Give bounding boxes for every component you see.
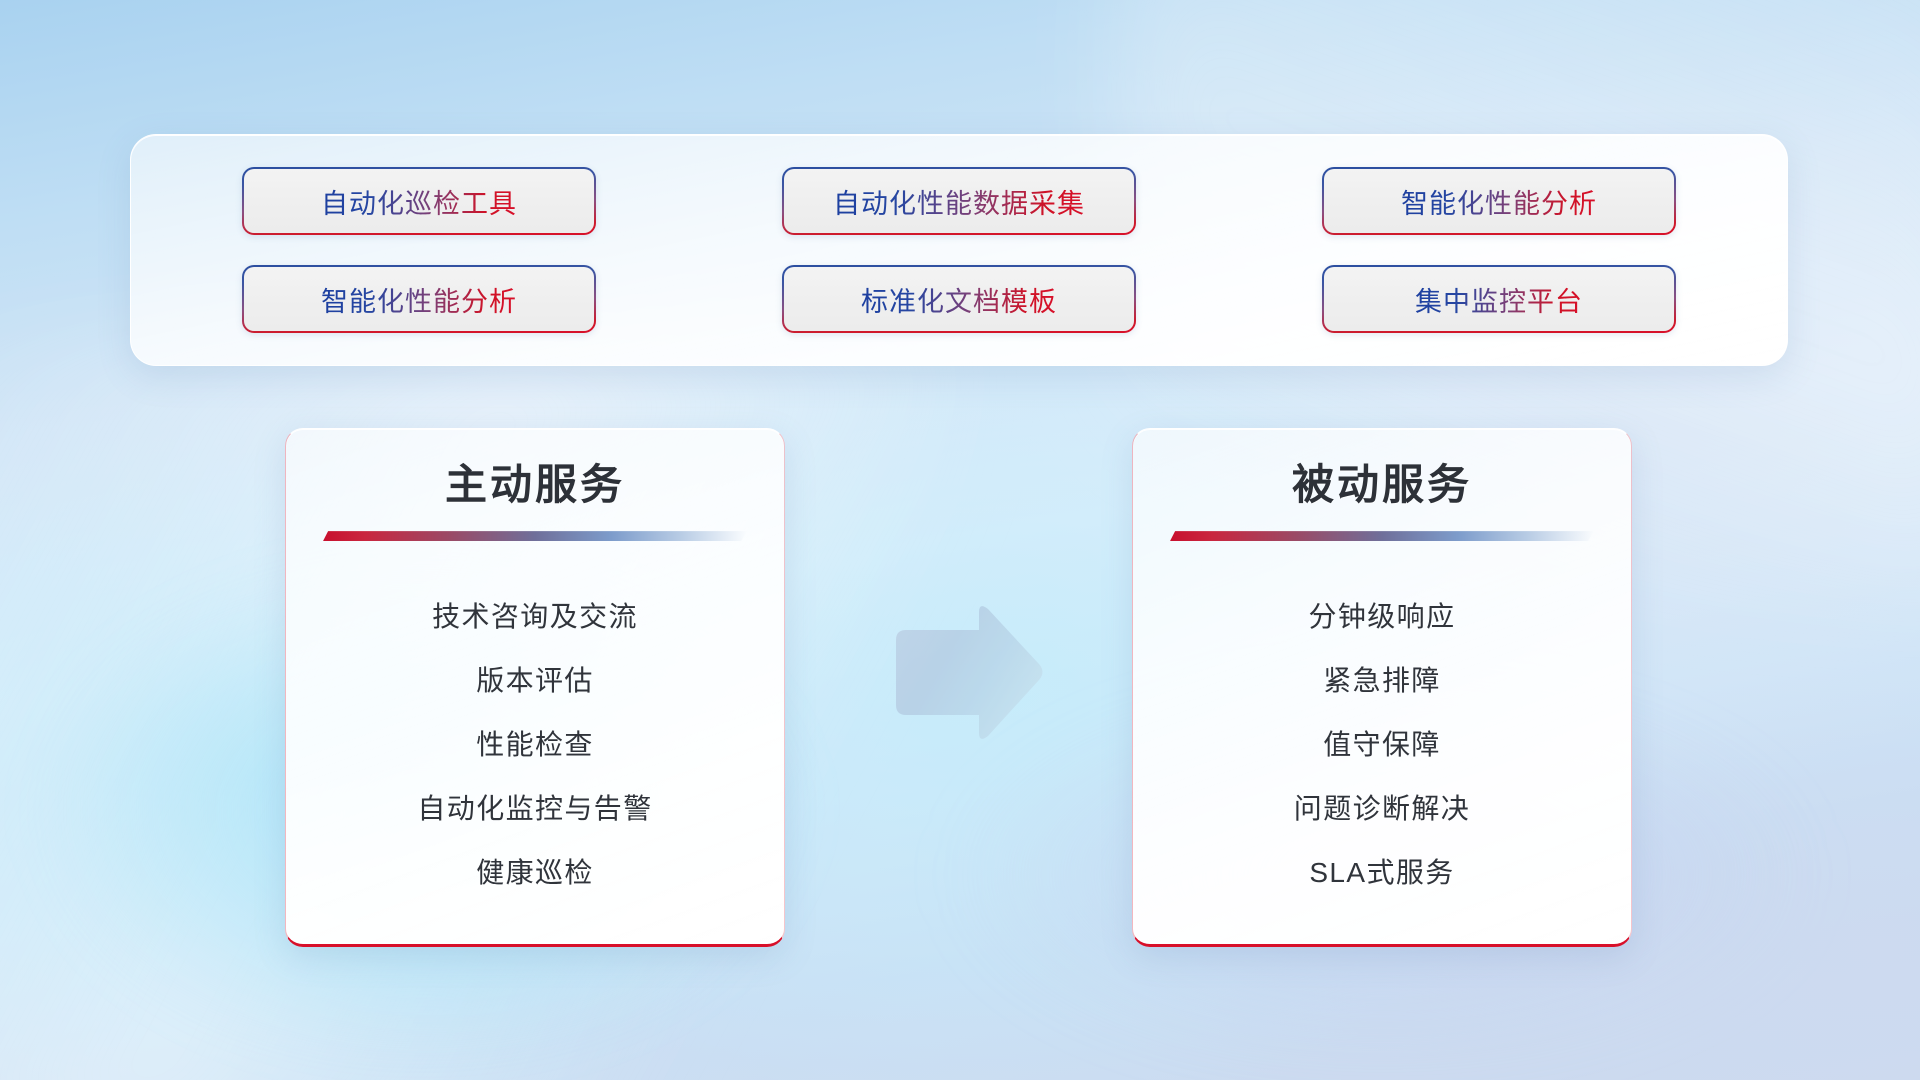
capability-tag-5-label: 标准化文档模板 [861,280,1057,319]
capability-tag-5[interactable]: 标准化文档模板 [782,265,1136,333]
list-item: 问题诊断解决 [1167,792,1597,826]
capability-tag-4[interactable]: 智能化性能分析 [242,265,596,333]
list-item: 技术咨询及交流 [320,600,750,634]
service-card-passive[interactable]: 被动服务 分钟级响应 紧急排障 值守保障 问题诊断解决 SLA式服务 [1132,428,1632,947]
list-item: SLA式服务 [1167,856,1597,890]
capability-tag-2[interactable]: 自动化性能数据采集 [782,167,1136,235]
list-item: 性能检查 [320,728,750,762]
capability-tag-2-label: 自动化性能数据采集 [833,182,1085,221]
list-item: 自动化监控与告警 [320,792,750,826]
capability-tag-1-surface: 自动化巡检工具 [244,169,594,233]
service-card-active-divider [323,531,747,541]
service-card-passive-title: 被动服务 [1167,459,1597,511]
arrow-right-icon [884,602,1044,744]
capability-tag-3-surface: 智能化性能分析 [1324,169,1674,233]
capability-tags-panel: 自动化巡检工具 自动化性能数据采集 智能化性能分析 智能化性能分析 标准化文档模… [130,134,1788,366]
capability-tag-2-surface: 自动化性能数据采集 [784,169,1134,233]
capability-tag-4-label: 智能化性能分析 [321,280,517,319]
capability-tag-6-label: 集中监控平台 [1415,280,1583,319]
capability-tag-6-surface: 集中监控平台 [1324,267,1674,331]
capability-tag-1[interactable]: 自动化巡检工具 [242,167,596,235]
service-card-passive-divider [1170,531,1594,541]
service-card-active-title: 主动服务 [320,459,750,511]
list-item: 健康巡检 [320,856,750,890]
capability-tag-1-label: 自动化巡检工具 [321,182,517,221]
service-card-active[interactable]: 主动服务 技术咨询及交流 版本评估 性能检查 自动化监控与告警 健康巡检 [285,428,785,947]
list-item: 紧急排障 [1167,664,1597,698]
list-item: 分钟级响应 [1167,600,1597,634]
service-card-passive-list: 分钟级响应 紧急排障 值守保障 问题诊断解决 SLA式服务 [1167,569,1597,920]
capability-tag-4-surface: 智能化性能分析 [244,267,594,331]
capability-tag-5-surface: 标准化文档模板 [784,267,1134,331]
service-card-active-list: 技术咨询及交流 版本评估 性能检查 自动化监控与告警 健康巡检 [320,569,750,920]
list-item: 版本评估 [320,664,750,698]
capability-tag-3[interactable]: 智能化性能分析 [1322,167,1676,235]
capability-tag-6[interactable]: 集中监控平台 [1322,265,1676,333]
list-item: 值守保障 [1167,728,1597,762]
capability-tag-3-label: 智能化性能分析 [1401,182,1597,221]
